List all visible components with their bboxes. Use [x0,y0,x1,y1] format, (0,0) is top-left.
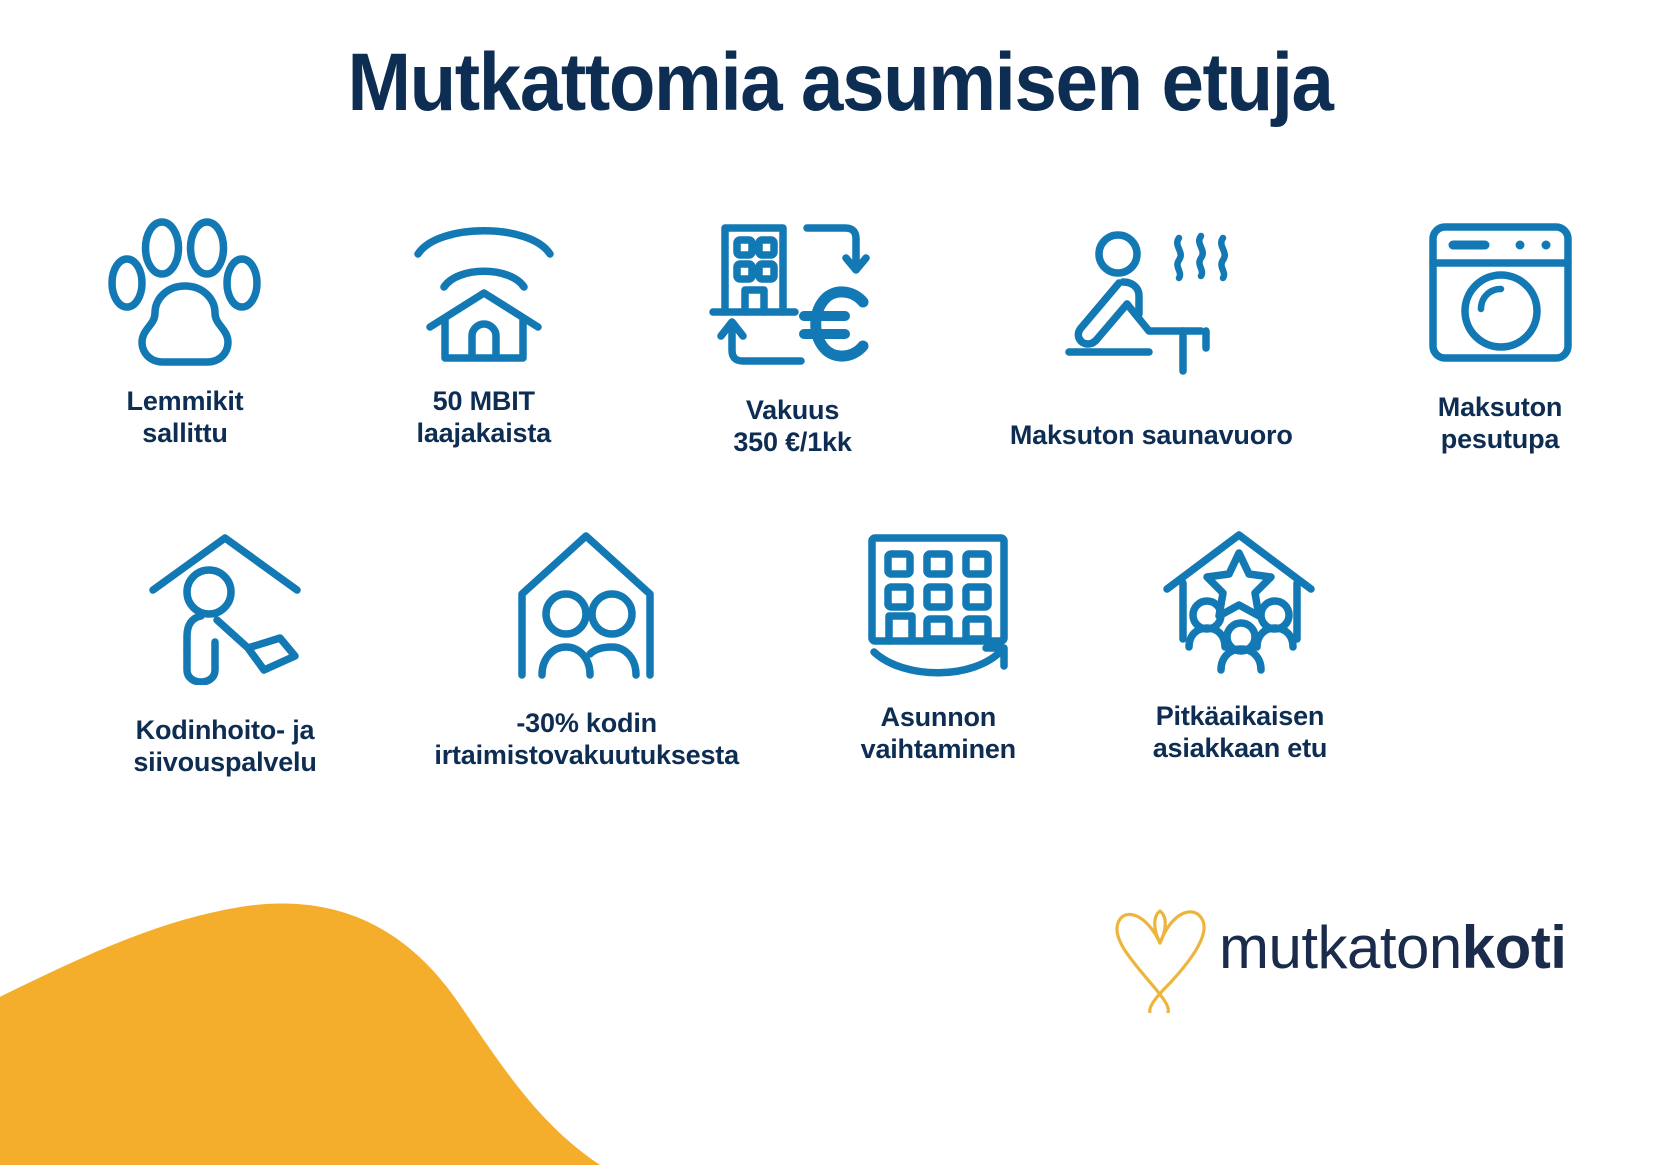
benefit-item-laundry: Maksuton pesutupa [1385,205,1615,456]
building-euro-exchange-icon [703,212,883,377]
icon-container [404,205,564,370]
benefits-row-2: Kodinhoito- ja siivouspalvelu -30% kodin… [95,520,1365,779]
decorative-amber-blob [0,835,600,1165]
benefit-item-sauna: Maksuton saunavuoro [986,205,1316,452]
benefit-label: 50 MBIT laajakaista [417,386,551,450]
benefit-label: Pitkäaikaisen asiakkaan etu [1153,701,1328,765]
benefit-item-apartment-swap: Asunnon vaihtaminen [818,520,1058,766]
house-two-people-icon [504,530,669,680]
icon-container [105,205,265,370]
cleaning-person-mop-icon [145,530,305,685]
benefit-item-broadband: 50 MBIT laajakaista [369,205,599,450]
brand-logo[interactable]: mutkatonkoti [1108,880,1548,1015]
wifi-house-icon [404,210,564,370]
benefit-item-loyalty: Pitkäaikaisen asiakkaan etu [1115,520,1365,765]
benefit-label: -30% kodin irtaimistovakuutuksesta [434,708,739,772]
logo-word-bold: koti [1462,914,1567,981]
benefit-item-insurance: -30% kodin irtaimistovakuutuksesta [412,520,762,772]
benefit-label: Asunnon vaihtaminen [861,702,1016,766]
benefit-label: Lemmikit sallittu [127,386,244,450]
house-star-family-icon [1157,527,1322,675]
icon-container [504,520,669,680]
apartment-swap-arrow-icon [858,530,1018,680]
benefit-label: Maksuton pesutupa [1438,392,1562,456]
icon-container [1157,520,1322,675]
page-title: Mutkattomia asumisen etuja [59,42,1621,124]
benefit-label: Vakuus 350 €/1kk [733,395,851,459]
benefit-item-cleaning: Kodinhoito- ja siivouspalvelu [95,520,355,779]
logo-word-light: mutkaton [1219,914,1462,981]
benefit-label: Maksuton saunavuoro [1010,420,1293,452]
benefit-item-pets: Lemmikit sallittu [70,205,300,450]
logo-wordmark: mutkatonkoti [1219,918,1566,978]
benefits-row-1: Lemmikit sallittu 50 MBIT laajakaista [70,205,1615,459]
heart-loop-icon [1108,883,1213,1013]
washing-machine-icon [1423,215,1578,370]
icon-container [145,520,305,685]
icon-container [1423,205,1578,370]
sauna-person-steam-icon [1061,230,1241,380]
benefit-item-deposit: Vakuus 350 €/1kk [668,205,918,459]
icon-container [1061,205,1241,380]
icon-container [703,205,883,377]
icon-container [858,520,1018,680]
benefit-label: Kodinhoito- ja siivouspalvelu [133,715,316,779]
paw-print-icon [105,210,265,370]
